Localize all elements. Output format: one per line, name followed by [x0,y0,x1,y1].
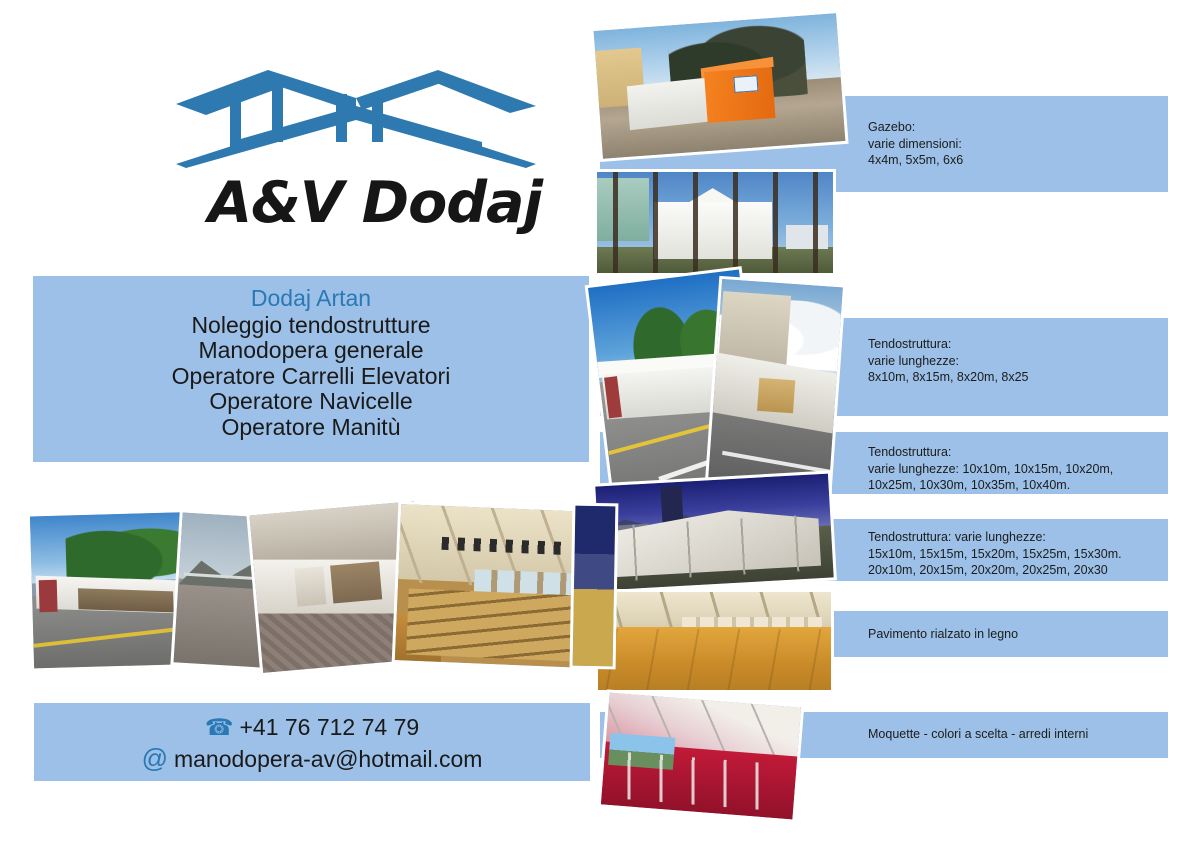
photo-large-tent-dusk [595,474,833,591]
caption-tendostruttura-8: Tendostruttura: varie lunghezze: 8x10m, … [868,336,1029,386]
caption-pavimento: Pavimento rialzato in legno [868,626,1018,643]
contact-panel: ☎+41 76 712 74 79 @manodopera-av@hotmail… [34,712,590,775]
brand-wordmark: A&V Dodaj [140,170,610,236]
photo-edge-sliver [573,506,616,667]
photo-orange-gazebo [594,13,846,158]
photo-tent-building [708,279,843,488]
photo-wooden-floor-interior [598,592,831,690]
caption-tendostruttura-15-20: Tendostruttura: varie lunghezze: 15x10m,… [868,529,1122,579]
caption-moquette: Moquette - colori a scelta - arredi inte… [868,726,1088,743]
photo-white-gazebo-trees [597,172,833,273]
telephone-icon: ☎ [205,714,234,740]
phone-number[interactable]: +41 76 712 74 79 [239,714,419,740]
owner-name: Dodaj Artan [33,286,589,313]
service-item-1: Manodopera generale [33,338,589,364]
email-address[interactable]: manodopera-av@hotmail.com [174,746,482,772]
service-item-4: Operatore Manitù [33,415,589,441]
flyer-page: A&V Dodaj Dodaj Artan Noleggio tendostru… [0,0,1200,848]
email-line: @manodopera-av@hotmail.com [34,743,590,775]
photo-red-carpet-interior [601,693,801,820]
phone-line: ☎+41 76 712 74 79 [34,712,590,743]
photo-banquet-interior [395,504,591,668]
caption-tendostruttura-10: Tendostruttura: varie lunghezze: 10x10m,… [868,444,1113,494]
brand-logo: A&V Dodaj [140,60,610,255]
service-item-0: Noleggio tendostrutture [33,313,589,339]
caption-gazebo: Gazebo: varie dimensioni: 4x4m, 5x5m, 6x… [868,119,963,169]
service-item-2: Operatore Carrelli Elevatori [33,364,589,390]
service-item-3: Operatore Navicelle [33,389,589,415]
at-sign-icon: @ [142,743,168,773]
services-panel: Dodaj Artan Noleggio tendostrutture Mano… [33,286,589,440]
